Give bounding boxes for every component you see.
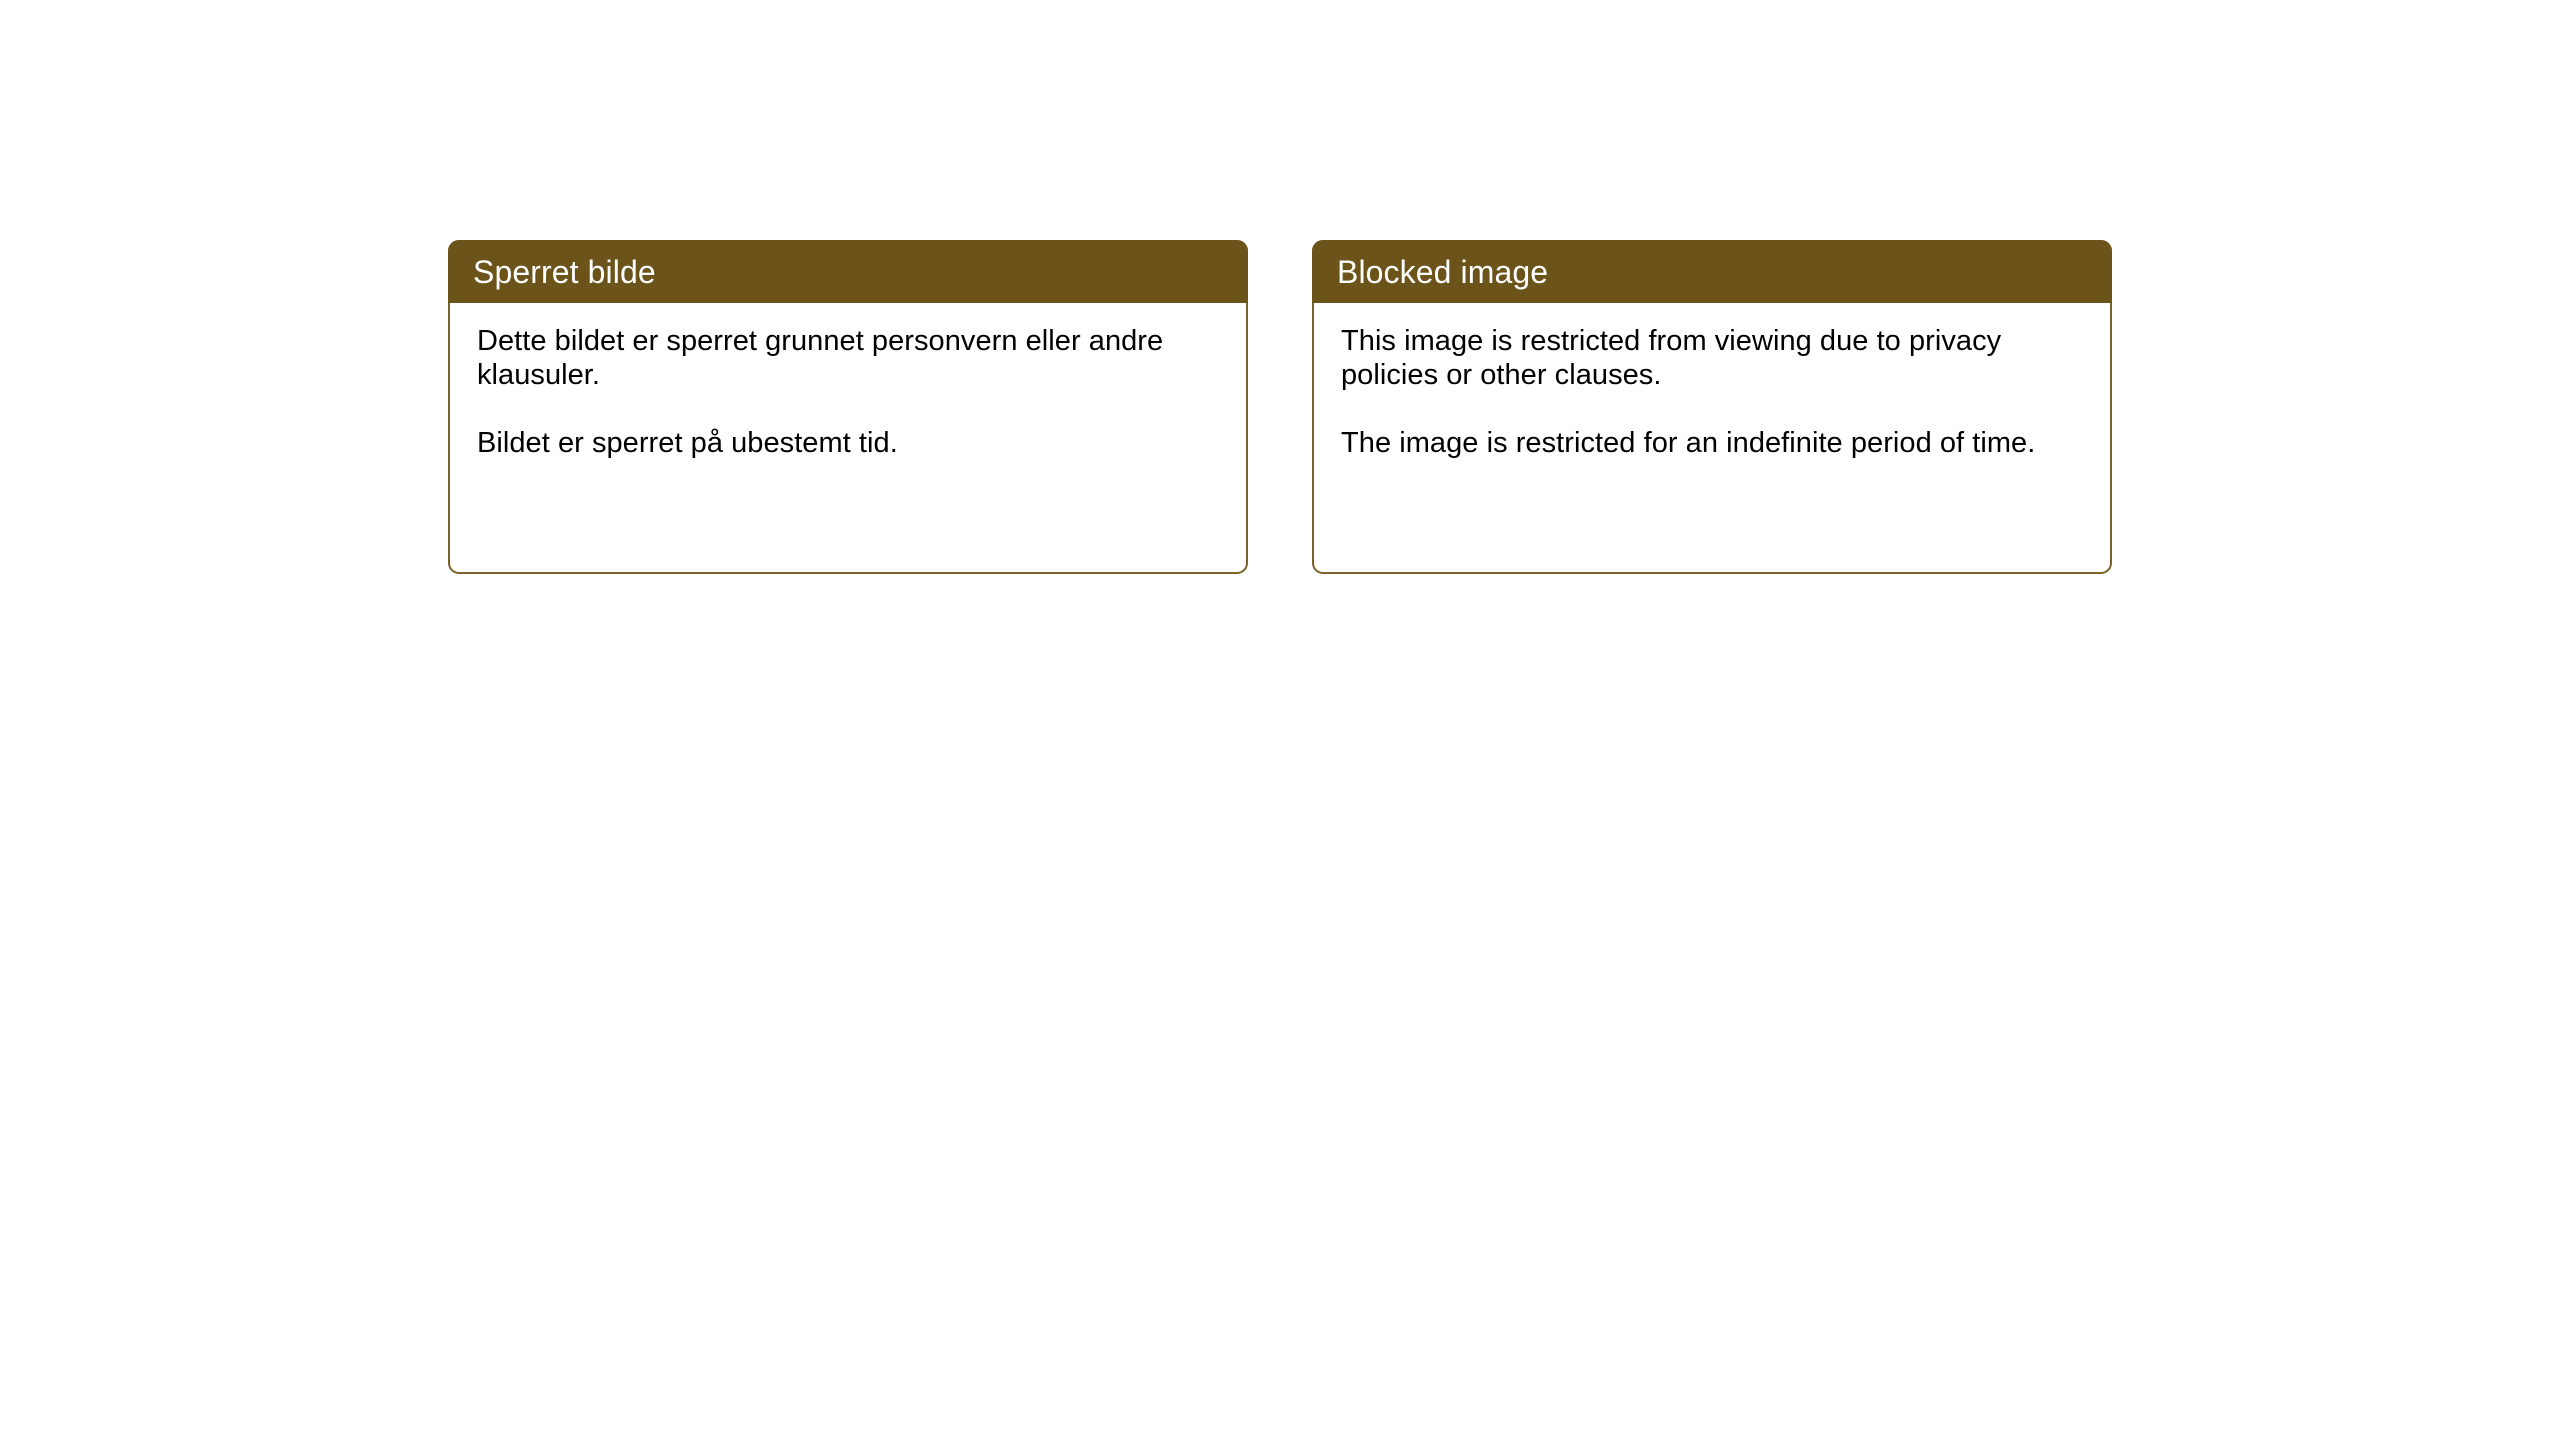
page-canvas: Sperret bilde Dette bildet er sperret gr… — [0, 0, 2560, 1440]
notice-header-norwegian: Sperret bilde — [448, 240, 1248, 303]
notice-paragraph-duration-norwegian: Bildet er sperret på ubestemt tid. — [477, 426, 1226, 460]
notice-title-english: Blocked image — [1337, 256, 1548, 288]
notice-paragraph-duration-english: The image is restricted for an indefinit… — [1341, 426, 2090, 460]
notice-body-english: This image is restricted from viewing du… — [1314, 303, 2110, 460]
notice-header-english: Blocked image — [1312, 240, 2112, 303]
blocked-image-notice-norwegian: Sperret bilde Dette bildet er sperret gr… — [448, 240, 1248, 574]
blocked-image-notice-english: Blocked image This image is restricted f… — [1312, 240, 2112, 574]
notice-body-norwegian: Dette bildet er sperret grunnet personve… — [450, 303, 1246, 460]
notice-paragraph-reason-norwegian: Dette bildet er sperret grunnet personve… — [477, 324, 1226, 392]
notice-paragraph-reason-english: This image is restricted from viewing du… — [1341, 324, 2090, 392]
notice-title-norwegian: Sperret bilde — [473, 256, 656, 288]
